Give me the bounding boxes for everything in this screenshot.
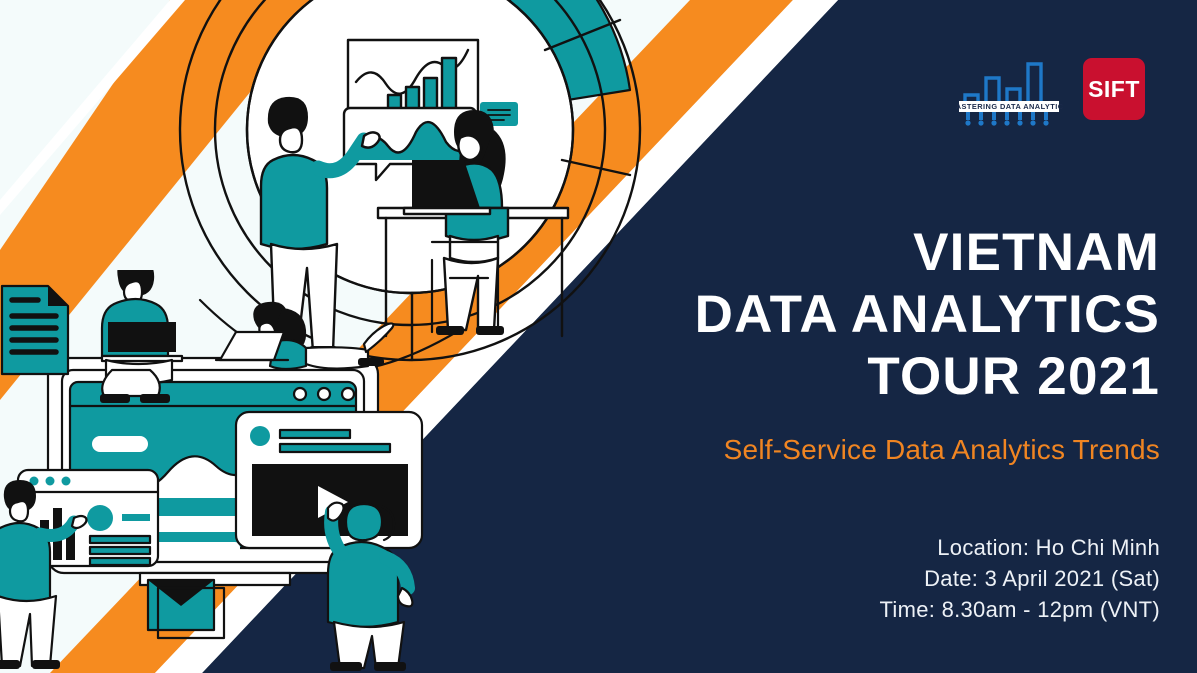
title-block: VIETNAM DATA ANALYTICS TOUR 2021 Self-Se… [560, 222, 1160, 466]
logo-banner-text: MASTERING DATA ANALYTICS [955, 102, 1063, 111]
envelope-icon [148, 580, 224, 638]
pie-divider-4 [562, 160, 630, 175]
mastering-data-analytics-logo[interactable]: MASTERING DATA ANALYTICS [955, 54, 1063, 134]
title-line-2: DATA ANALYTICS [560, 284, 1160, 346]
illustration-dashboard-workspace [0, 270, 460, 673]
event-banner: VIETNAM DATA ANALYTICS TOUR 2021 Self-Se… [0, 0, 1197, 673]
logo-group: MASTERING DATA ANALYTICS SIFT [955, 52, 1155, 136]
subtitle: Self-Service Data Analytics Trends [560, 434, 1160, 466]
event-details: Location: Ho Chi Minh Date: 3 April 2021… [560, 532, 1160, 626]
document-icon [2, 286, 68, 374]
card-text-rows [90, 536, 150, 565]
sift-logo-text: SIFT [1088, 76, 1140, 103]
detail-location: Location: Ho Chi Minh [560, 532, 1160, 563]
detail-time: Time: 8.30am - 12pm (VNT) [560, 594, 1160, 625]
sift-logo[interactable]: SIFT [1083, 58, 1145, 120]
logo-bar-4 [1028, 64, 1041, 106]
detail-date: Date: 3 April 2021 (Sat) [560, 563, 1160, 594]
window-dots [294, 388, 354, 400]
title-line-1: VIETNAM [560, 222, 1160, 284]
person-lying-laptop [216, 302, 393, 369]
logo-bar-dots [965, 120, 1048, 125]
title-line-3: TOUR 2021 [560, 346, 1160, 408]
